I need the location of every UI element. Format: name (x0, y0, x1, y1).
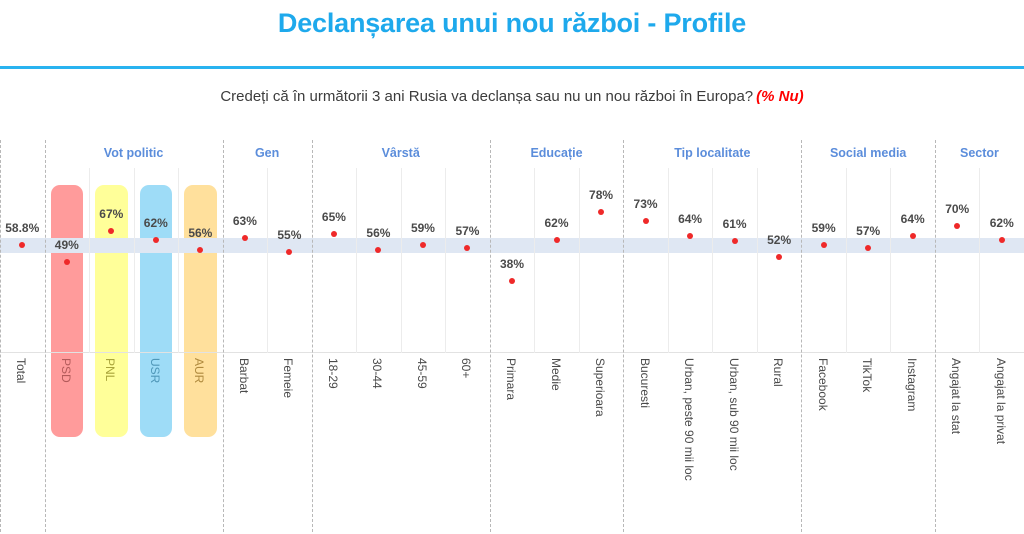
data-point-instagram[interactable] (910, 233, 916, 239)
value-label-urban-sub-90-mii-loc: 61% (723, 217, 747, 231)
tick-label-femeie: Femeie (281, 358, 295, 398)
tick-label-60: 60+ (459, 358, 473, 378)
tick-label-total: Total (14, 358, 28, 383)
value-label-angajat-la-privat: 62% (990, 216, 1014, 230)
tick-label-urban-peste-90-mii-loc: Urban, peste 90 mii loc (682, 358, 696, 481)
column-separator (979, 168, 980, 353)
column-separator (579, 168, 580, 353)
axis-baseline (0, 352, 1024, 353)
tick-label-facebook: Facebook (816, 358, 830, 411)
category-bar-aur[interactable] (184, 185, 217, 437)
group-header-tip-localitate: Tip localitate (623, 146, 801, 160)
data-point-usr[interactable] (153, 237, 159, 243)
category-bar-psd[interactable] (51, 185, 84, 437)
column-separator (846, 168, 847, 353)
value-label-60: 57% (455, 224, 479, 238)
tick-label-usr: USR (148, 358, 162, 383)
group-header-educa-ie: Educație (490, 146, 624, 160)
group-header-v-rst-: Vârstă (312, 146, 490, 160)
tick-label-45-59: 45-59 (415, 358, 429, 389)
group-header-vot-politic: Vot politic (45, 146, 223, 160)
tick-label-medie: Medie (549, 358, 563, 391)
value-label-usr: 62% (144, 216, 168, 230)
data-point-facebook[interactable] (821, 242, 827, 248)
category-bar-pnl[interactable] (95, 185, 128, 437)
data-point-bucuresti[interactable] (643, 218, 649, 224)
value-label-primara: 38% (500, 257, 524, 271)
value-label-psd: 49% (55, 238, 79, 252)
column-separator (134, 168, 135, 353)
value-label-45-59: 59% (411, 221, 435, 235)
tick-label-primara: Primara (504, 358, 518, 400)
tick-label-tiktok: TikTok (860, 358, 874, 392)
group-header-social-media: Social media (801, 146, 935, 160)
group-separator (623, 140, 624, 532)
group-separator (935, 140, 936, 532)
group-separator (223, 140, 224, 532)
group-header-gen: Gen (223, 146, 312, 160)
value-label-total: 58.8% (5, 221, 39, 235)
data-point-medie[interactable] (554, 237, 560, 243)
data-point-18-29[interactable] (331, 231, 337, 237)
column-separator (267, 168, 268, 353)
tick-label-angajat-la-privat: Angajat la privat (994, 358, 1008, 444)
value-label-barbat: 63% (233, 214, 257, 228)
value-label-medie: 62% (545, 216, 569, 230)
question-text: Credeți că în următorii 3 ani Rusia va d… (220, 88, 753, 105)
tick-label-18-29: 18-29 (326, 358, 340, 389)
group-separator (801, 140, 802, 532)
column-separator (534, 168, 535, 353)
tick-label-barbat: Barbat (237, 358, 251, 393)
column-separator (445, 168, 446, 353)
question-suffix: (% Nu) (756, 88, 804, 105)
value-label-superioara: 78% (589, 188, 613, 202)
chart-title: Declanșarea unui nou război - Profile (0, 8, 1024, 39)
tick-label-30-44: 30-44 (370, 358, 384, 389)
value-label-facebook: 59% (812, 221, 836, 235)
value-label-bucuresti: 73% (634, 197, 658, 211)
tick-label-urban-sub-90-mii-loc: Urban, sub 90 mii loc (727, 358, 741, 471)
data-point-superioara[interactable] (598, 209, 604, 215)
column-separator (178, 168, 179, 353)
tick-label-bucuresti: Bucuresti (638, 358, 652, 408)
value-label-pnl: 67% (99, 207, 123, 221)
column-separator (401, 168, 402, 353)
group-separator (490, 140, 491, 532)
column-separator (668, 168, 669, 353)
chart-question: Credeți că în următorii 3 ani Rusia va d… (0, 88, 1024, 105)
data-point-femeie[interactable] (286, 249, 292, 255)
column-separator (890, 168, 891, 353)
tick-label-aur: AUR (192, 358, 206, 383)
value-label-30-44: 56% (366, 226, 390, 240)
column-separator (356, 168, 357, 353)
tick-label-pnl: PNL (103, 358, 117, 381)
data-point-urban-sub-90-mii-loc[interactable] (732, 238, 738, 244)
column-separator (757, 168, 758, 353)
column-separator (712, 168, 713, 353)
data-point-rural[interactable] (776, 254, 782, 260)
tick-label-angajat-la-stat: Angajat la stat (949, 358, 963, 434)
value-label-18-29: 65% (322, 210, 346, 224)
data-point-45-59[interactable] (420, 242, 426, 248)
group-separator (312, 140, 313, 532)
value-label-tiktok: 57% (856, 224, 880, 238)
column-separator (89, 168, 90, 353)
data-point-primara[interactable] (509, 278, 515, 284)
value-label-aur: 56% (188, 226, 212, 240)
tick-label-rural: Rural (771, 358, 785, 387)
value-label-angajat-la-stat: 70% (945, 202, 969, 216)
data-point-barbat[interactable] (242, 235, 248, 241)
chart-plot-area: 58.8%TotalVot politic49%PSD67%PNL62%USR5… (0, 132, 1024, 534)
value-label-urban-peste-90-mii-loc: 64% (678, 212, 702, 226)
data-point-psd[interactable] (64, 259, 70, 265)
tick-label-instagram: Instagram (905, 358, 919, 411)
data-point-angajat-la-stat[interactable] (954, 223, 960, 229)
title-divider (0, 66, 1024, 69)
value-label-rural: 52% (767, 233, 791, 247)
group-separator (0, 140, 1, 532)
group-header-sector: Sector (935, 146, 1024, 160)
data-point-angajat-la-privat[interactable] (999, 237, 1005, 243)
tick-label-superioara: Superioara (593, 358, 607, 417)
tick-label-psd: PSD (59, 358, 73, 383)
group-separator (45, 140, 46, 532)
value-label-femeie: 55% (277, 228, 301, 242)
value-label-instagram: 64% (901, 212, 925, 226)
